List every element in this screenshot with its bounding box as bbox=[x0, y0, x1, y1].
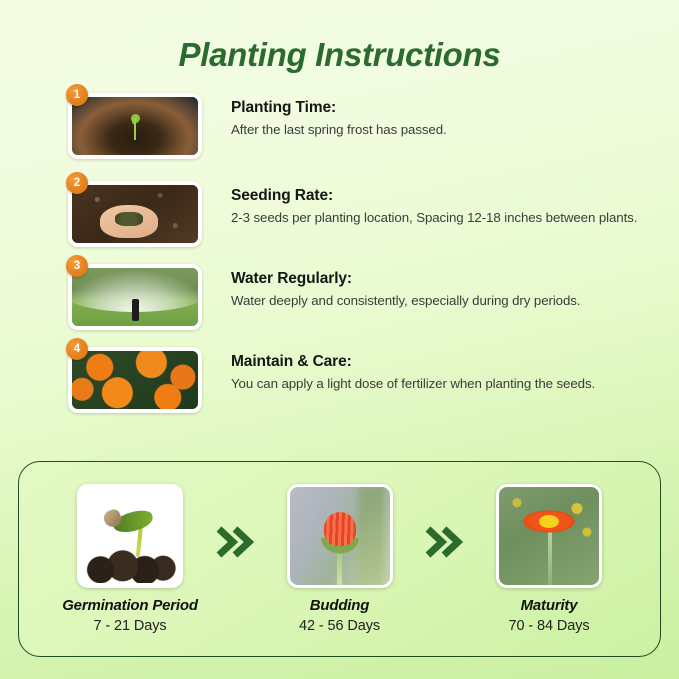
timeline-stage-label-maturity: Maturity bbox=[474, 597, 624, 614]
step-thumbnail-wrap-2: 2 bbox=[68, 181, 204, 247]
step-image-4 bbox=[68, 347, 202, 413]
step-item-1: 1 Planting Time: After the last spring f… bbox=[0, 93, 679, 159]
step-item-3: 3 Water Regularly: Water deeply and cons… bbox=[0, 264, 679, 330]
step-number-badge-1: 1 bbox=[66, 84, 88, 106]
step-body-1: After the last spring frost has passed. bbox=[231, 121, 643, 140]
seedling-sprout-icon bbox=[80, 487, 180, 585]
timeline-stage-label-germination: Germination Period bbox=[55, 597, 205, 614]
timeline-stage-budding: Budding 42 - 56 Days bbox=[265, 484, 415, 634]
timeline-stage-image-germination bbox=[77, 484, 183, 588]
timeline-stage-days-maturity: 70 - 84 Days bbox=[474, 618, 624, 634]
step-body-3: Water deeply and consistently, especiall… bbox=[231, 292, 643, 311]
double-chevron-right-icon-1 bbox=[215, 523, 255, 561]
mature-flower-icon bbox=[499, 487, 599, 585]
step-item-4: 4 Maintain & Care: You can apply a light… bbox=[0, 347, 679, 413]
double-chevron-right-icon-2 bbox=[424, 523, 464, 561]
timeline-stage-germination: Germination Period 7 - 21 Days bbox=[55, 484, 205, 634]
step-body-2: 2-3 seeds per planting location, Spacing… bbox=[231, 209, 643, 228]
step-text-3: Water Regularly: Water deeply and consis… bbox=[204, 264, 679, 311]
step-heading-2: Seeding Rate: bbox=[231, 187, 643, 205]
timeline-stage-days-germination: 7 - 21 Days bbox=[55, 618, 205, 634]
step-text-1: Planting Time: After the last spring fro… bbox=[204, 93, 679, 140]
step-number-badge-4: 4 bbox=[66, 338, 88, 360]
growth-timeline-panel: Germination Period 7 - 21 Days Budding 4… bbox=[18, 461, 661, 657]
hands-seedling-icon bbox=[72, 97, 198, 155]
hand-seeds-icon bbox=[72, 185, 198, 243]
step-heading-1: Planting Time: bbox=[231, 99, 643, 117]
step-thumbnail-wrap-4: 4 bbox=[68, 347, 204, 413]
step-body-4: You can apply a light dose of fertilizer… bbox=[231, 375, 643, 394]
step-image-2 bbox=[68, 181, 202, 247]
page-title: Planting Instructions bbox=[0, 0, 679, 74]
timeline-stage-days-budding: 42 - 56 Days bbox=[265, 618, 415, 634]
step-thumbnail-wrap-1: 1 bbox=[68, 93, 204, 159]
steps-list: 1 Planting Time: After the last spring f… bbox=[0, 93, 679, 413]
step-number-badge-2: 2 bbox=[66, 172, 88, 194]
step-text-2: Seeding Rate: 2-3 seeds per planting loc… bbox=[204, 181, 679, 228]
step-heading-4: Maintain & Care: bbox=[231, 353, 643, 371]
step-number-badge-3: 3 bbox=[66, 255, 88, 277]
flower-bud-icon bbox=[290, 487, 390, 585]
step-thumbnail-wrap-3: 3 bbox=[68, 264, 204, 330]
step-heading-3: Water Regularly: bbox=[231, 270, 643, 288]
sprinkler-icon bbox=[72, 268, 198, 326]
timeline-stage-label-budding: Budding bbox=[265, 597, 415, 614]
timeline-stage-image-budding bbox=[287, 484, 393, 588]
timeline-stage-image-maturity bbox=[496, 484, 602, 588]
step-image-1 bbox=[68, 93, 202, 159]
planting-instructions-infographic: Planting Instructions 1 Planting Time: A… bbox=[0, 0, 679, 679]
step-text-4: Maintain & Care: You can apply a light d… bbox=[204, 347, 679, 394]
timeline-stage-maturity: Maturity 70 - 84 Days bbox=[474, 484, 624, 634]
marigold-flowers-icon bbox=[72, 351, 198, 409]
step-image-3 bbox=[68, 264, 202, 330]
step-item-2: 2 Seeding Rate: 2-3 seeds per planting l… bbox=[0, 181, 679, 247]
